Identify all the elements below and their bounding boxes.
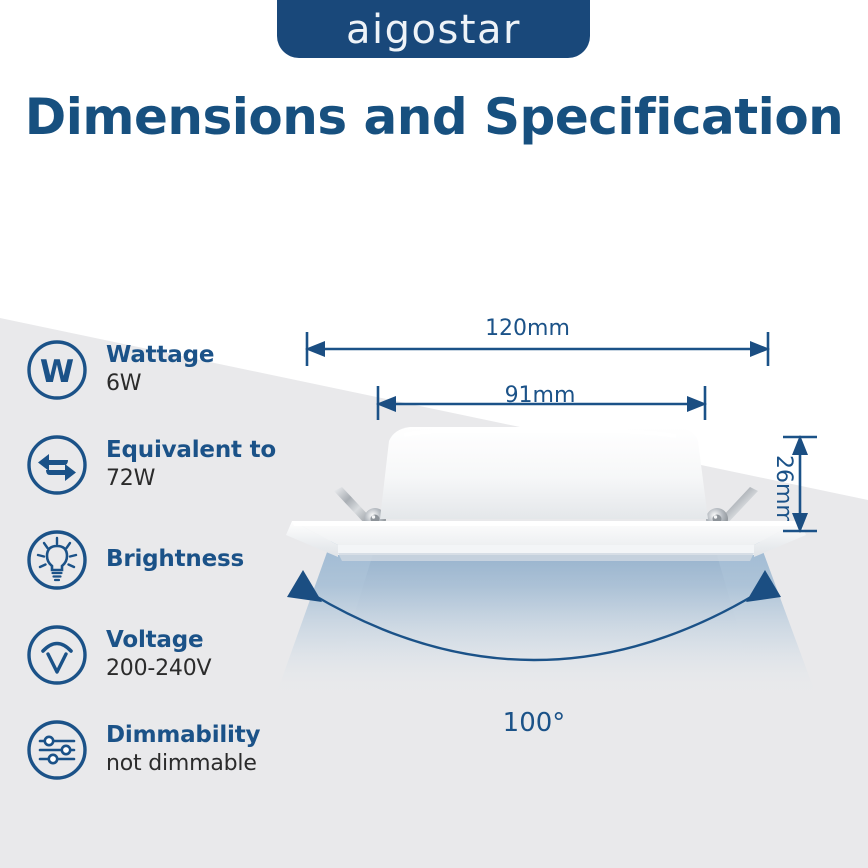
infographic-page: aigostar Dimensions and Specification	[0, 0, 868, 868]
spec-row-wattage: W Wattage 6W	[24, 322, 324, 417]
spec-value-wattage: 6W	[106, 370, 214, 399]
fixture-bezel	[286, 521, 806, 557]
page-title: Dimensions and Specification	[0, 90, 868, 145]
spec-label-brightness: Brightness	[106, 545, 244, 574]
dimmability-sliders-icon	[24, 717, 90, 783]
spec-value-voltage: 200-240V	[106, 655, 211, 684]
bezel-inner-edge	[338, 553, 754, 561]
brand-wordmark: aigostar	[346, 10, 521, 50]
spec-row-voltage: Voltage 200-240V	[24, 607, 324, 702]
specification-list: W Wattage 6W Equivalent to 72W	[24, 322, 324, 797]
product-photo	[276, 395, 816, 695]
brightness-bulb-icon	[24, 527, 90, 593]
fixture-body	[380, 427, 708, 519]
spec-value-dimmability: not dimmable	[106, 750, 260, 779]
wattage-w-circle-icon: W	[24, 337, 90, 403]
svg-text:W: W	[40, 354, 74, 390]
voltage-v-circle-icon	[24, 622, 90, 688]
equivalent-arrows-icon	[24, 432, 90, 498]
spec-label-wattage: Wattage	[106, 341, 214, 370]
spec-label-voltage: Voltage	[106, 626, 211, 655]
spec-row-brightness: Brightness	[24, 512, 324, 607]
spec-value-equivalent-to: 72W	[106, 465, 276, 494]
spec-label-equivalent-to: Equivalent to	[106, 436, 276, 465]
spec-label-dimmability: Dimmability	[106, 721, 260, 750]
spec-row-dimmability: Dimmability not dimmable	[24, 702, 324, 797]
spec-row-equivalent-to: Equivalent to 72W	[24, 417, 324, 512]
brand-banner: aigostar	[277, 0, 590, 58]
